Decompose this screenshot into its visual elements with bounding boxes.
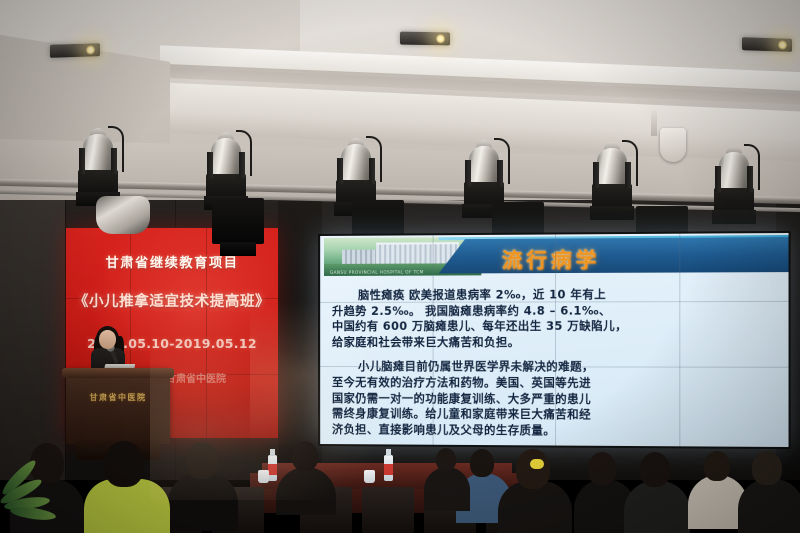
slide-line: 至今无有效的治疗方法和药物。美国、英国等先进 — [332, 375, 776, 392]
slide-line: 升趋势 2.5‰。 我国脑瘫患病率约 4.8 – 6.1‰、 — [332, 303, 776, 320]
hair-clip — [530, 459, 544, 469]
water-bottle — [268, 455, 277, 481]
attendee-head — [752, 451, 782, 485]
banner-course-title: 《小儿推拿适宜技术提高班》 — [66, 290, 278, 311]
photo-caption: GANSU PROVINCIAL HOSPITAL OF TCM — [330, 270, 424, 275]
attendee-head — [516, 449, 550, 489]
attendee-head — [436, 448, 456, 471]
stage-light-lower-icon — [212, 198, 264, 244]
slide-title-band: 流行病学 — [439, 237, 789, 273]
lectern-gold-text: 甘肃省中医院 — [66, 392, 170, 403]
water-bottle — [384, 455, 393, 481]
attendee-body — [624, 481, 690, 533]
stage-light-icon — [586, 140, 638, 224]
photo-scene: 甘肃省继续教育项目 《小儿推拿适宜技术提高班》 2019.05.10-2019.… — [0, 0, 800, 533]
attendee-body — [738, 479, 800, 533]
slide-line: 小儿脑瘫目前仍属世界医学界未解决的难题， — [332, 359, 776, 376]
attendee-head — [470, 449, 494, 477]
wall-speaker-icon — [660, 128, 686, 162]
slide-line: 国家仍需一对一的功能康复训练、大多严重的患儿 — [332, 391, 776, 408]
paper-cup — [258, 470, 269, 483]
led-video-wall: GANSU PROVINCIAL HOSPITAL OF TCM 流行病学 脑性… — [320, 233, 789, 447]
wall-speaker-bracket — [651, 110, 657, 136]
attendee-body — [424, 467, 470, 511]
slide-title: 流行病学 — [502, 243, 601, 273]
attendee-head — [704, 451, 730, 481]
potted-plant — [0, 455, 90, 533]
attendee-head — [292, 441, 318, 471]
slide-paragraph-1: 脑性瘫痪 欧美报道患病率 2‰，近 10 年有上 升趋势 2.5‰。 我国脑瘫患… — [332, 287, 776, 351]
downlight-icon — [50, 43, 100, 58]
downlight-icon — [742, 37, 792, 52]
attendee-head — [104, 441, 144, 487]
stage-light-lower-icon — [96, 196, 150, 234]
slide-line: 给家庭和社会带来巨大痛苦和负担。 — [332, 335, 776, 351]
attendee-body — [168, 473, 238, 531]
attendee-head — [588, 452, 616, 485]
attendee-body — [84, 479, 170, 533]
attendee-head — [186, 442, 218, 479]
audience-area — [0, 425, 800, 533]
paper-cup — [364, 470, 375, 483]
stage-light-icon — [708, 144, 760, 228]
slide-line-highlight: 需终身康复训练。给儿童和家庭带来巨大痛苦和经 — [332, 406, 776, 424]
chair — [362, 487, 414, 533]
downlight-icon — [400, 32, 450, 46]
slide-line: 中国约有 600 万脑瘫患儿、每年还出生 35 万缺陷儿， — [332, 319, 776, 335]
attendee-head — [640, 452, 670, 487]
